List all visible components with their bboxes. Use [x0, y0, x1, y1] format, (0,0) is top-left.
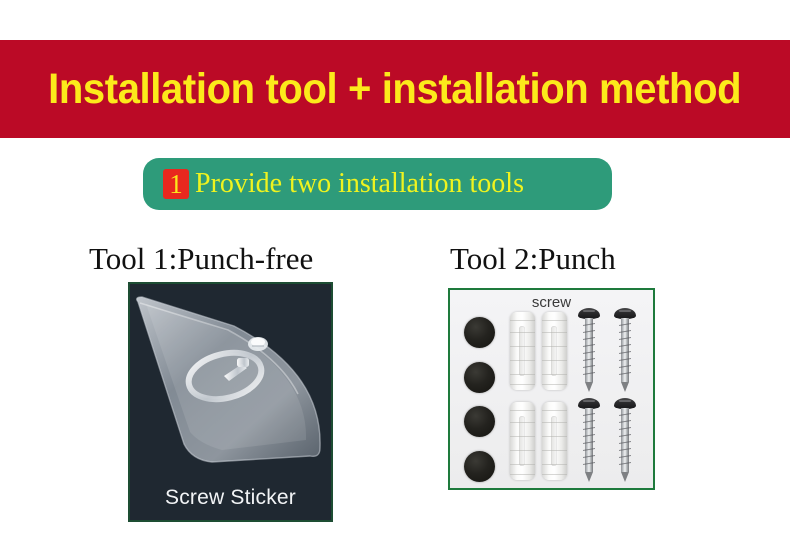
cap-dot — [464, 317, 495, 348]
anchor-slot — [551, 416, 557, 466]
step-number-badge: 1 — [163, 169, 189, 199]
page-title: Installation tool + installation method — [48, 68, 741, 111]
screw-item — [614, 398, 636, 482]
tool-1-caption: Screw Sticker — [130, 487, 331, 508]
tool-2-heading: Tool 2:Punch — [450, 243, 616, 274]
step-number: 1 — [169, 171, 183, 198]
title-banner: Installation tool + installation method — [0, 40, 790, 138]
page-root: Installation tool + installation method … — [0, 0, 790, 541]
cap-dot — [464, 451, 495, 482]
tool-1-heading: Tool 1:Punch-free — [89, 243, 313, 274]
screw-item — [578, 308, 600, 392]
anchor-slot — [519, 326, 525, 376]
screw-sticker-illustration — [130, 284, 331, 484]
anchor-slot — [551, 326, 557, 376]
cap-dot-group — [464, 317, 504, 482]
screw-tip — [621, 382, 629, 392]
step-label: Provide two installation tools — [195, 170, 524, 198]
wall-anchor — [510, 402, 535, 480]
tool-1-image-card: Screw Sticker — [128, 282, 333, 522]
tool-2-image-card: screw — [448, 288, 655, 490]
screw-sticker-svg — [130, 284, 331, 484]
screw-tip — [585, 472, 593, 482]
screw-tip — [621, 472, 629, 482]
screw-kit-illustration: screw — [450, 290, 653, 488]
screw-item — [614, 308, 636, 392]
wall-anchor-group — [510, 312, 572, 482]
wall-anchor — [542, 402, 567, 480]
step-banner: 1 Provide two installation tools — [143, 158, 612, 210]
cap-dot — [464, 362, 495, 393]
screw-tip — [585, 382, 593, 392]
screw-item — [578, 398, 600, 482]
cap-dot — [464, 406, 495, 437]
anchor-slot — [519, 416, 525, 466]
wall-anchor — [510, 312, 535, 390]
screw-group — [578, 308, 648, 484]
wall-anchor — [542, 312, 567, 390]
